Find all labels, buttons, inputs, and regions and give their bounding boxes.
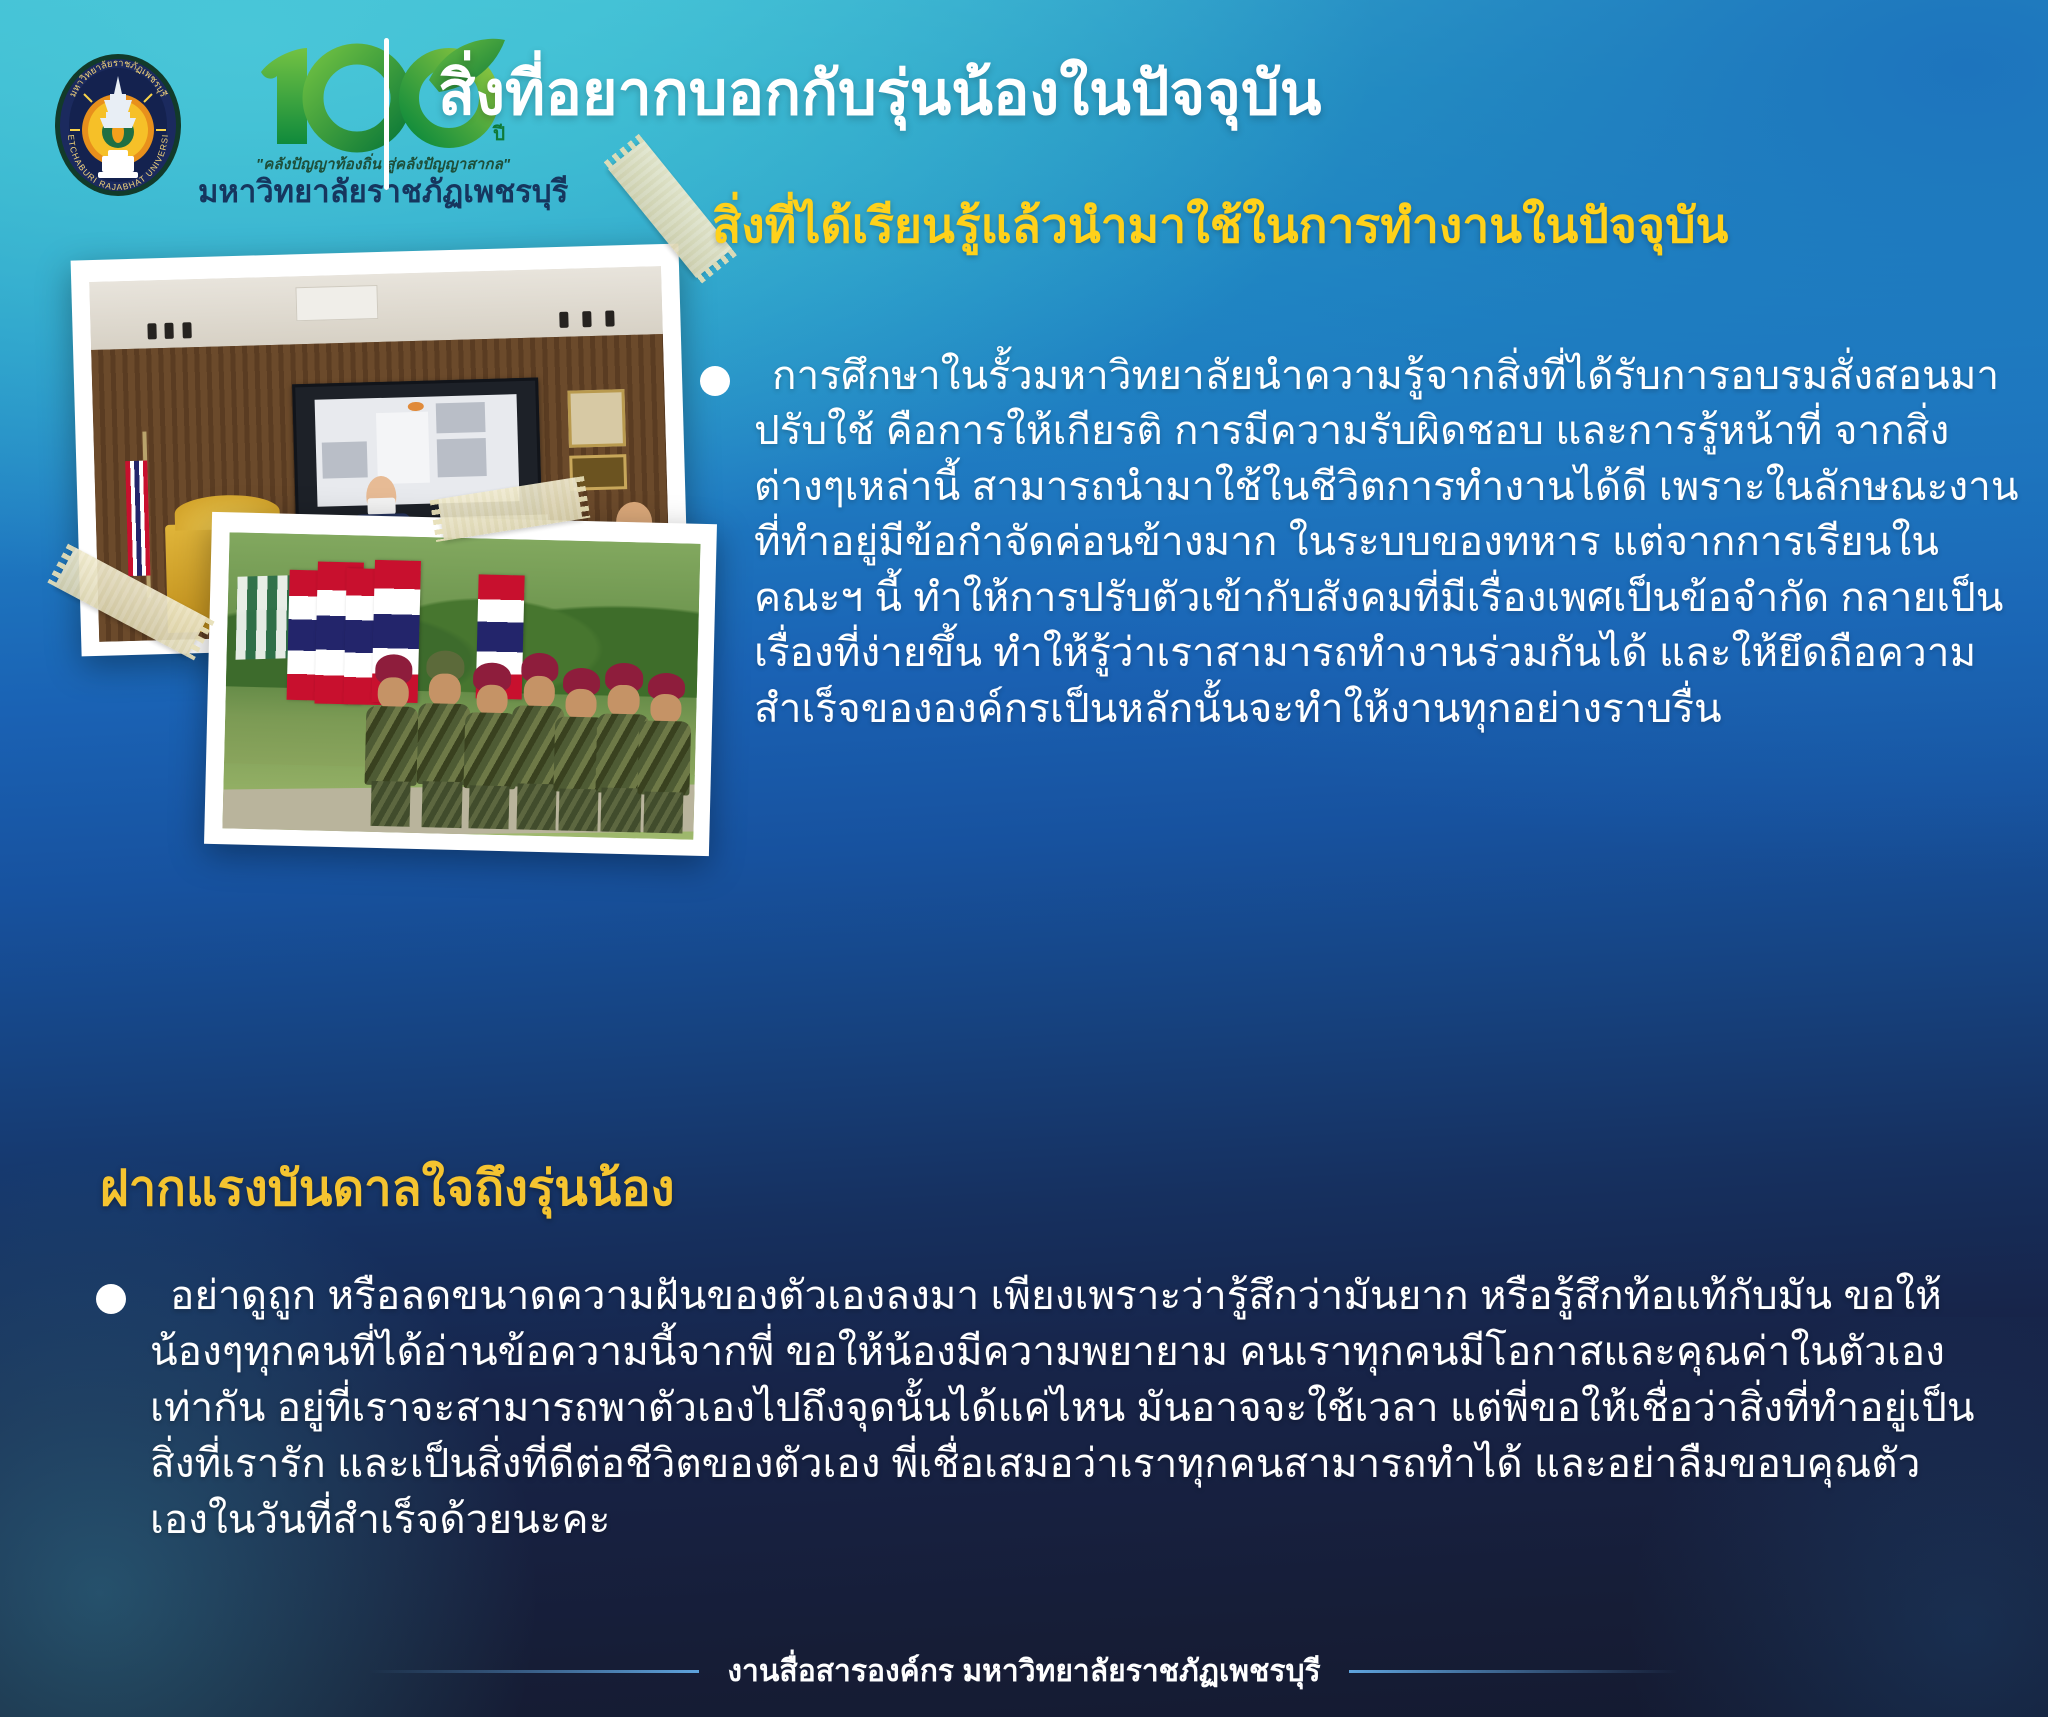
section1-heading: สิ่งที่ได้เรียนรู้แล้วนำมาใช้ในการทำงานใ… [712, 196, 2002, 257]
photo-soldiers-formation [204, 512, 717, 856]
page-title: สิ่งที่อยากบอกกับรุ่นน้องในปัจจุบัน [438, 58, 1998, 130]
section2-heading: ฝากแรงบันดาลใจถึงรุ่นน้อง [100, 1160, 1600, 1219]
section1-body-text: การศึกษาในรั้วมหาวิทยาลัยนำความรู้จากสิ่… [754, 348, 2020, 736]
bullet-dot-icon [96, 1284, 126, 1314]
footer-credit: งานสื่อสารองค์กร มหาวิทยาลัยราชภัฏเพชรบุ… [727, 1648, 1320, 1695]
university-seal-icon: มหาวิทยาลัยราชภัฏเพชรบุรี PHETCHABURI RA… [52, 52, 184, 198]
bullet-dot-icon [700, 366, 730, 396]
photo-soldiers-formation-image [222, 532, 700, 839]
footer: งานสื่อสารองค์กร มหาวิทยาลัยราชภัฏเพชรบุ… [0, 1625, 2048, 1717]
header-divider [384, 38, 389, 190]
infographic-poster: มหาวิทยาลัยราชภัฏเพชรบุรี PHETCHABURI RA… [0, 0, 2048, 1717]
section1-bullet: การศึกษาในรั้วมหาวิทยาลัยนำความรู้จากสิ่… [700, 348, 2020, 736]
footer-rule-left [369, 1670, 699, 1673]
section2-body-text: อย่าดูถูก หรือลดขนาดความฝันของตัวเองลงมา… [150, 1268, 1976, 1547]
footer-rule-right [1349, 1670, 1679, 1673]
header: มหาวิทยาลัยราชภัฏเพชรบุรี PHETCHABURI RA… [0, 0, 2048, 200]
section2-bullet: อย่าดูถูก หรือลดขนาดความฝันของตัวเองลงมา… [96, 1268, 1976, 1547]
